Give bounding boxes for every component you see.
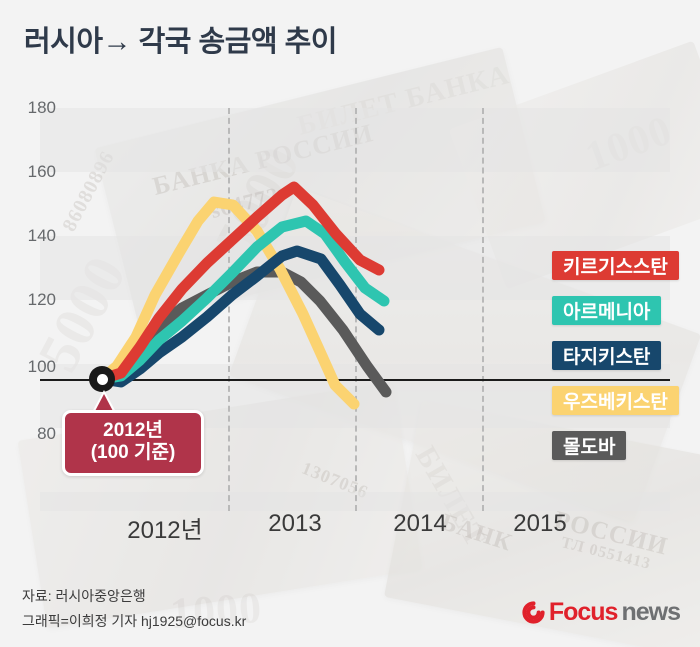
legend-label: 몰도바: [563, 432, 615, 459]
page-title: 러시아→ 각국 송금액 추이: [24, 18, 337, 60]
focus-spiral-icon: [522, 601, 545, 624]
footer-source: 자료: 러시아중앙은행: [22, 584, 246, 609]
y-tick-160: 160: [10, 162, 56, 182]
footer-credit: 그래픽=이희정 기자 hj1925@focus.kr: [22, 609, 246, 634]
y-tick-80: 80: [10, 424, 56, 444]
legend-item-uzbekistan[interactable]: 우즈베키스탄: [552, 386, 679, 415]
logo-news-text: news: [621, 598, 680, 627]
legend-label: 아르메니아: [563, 297, 650, 324]
legend-item-moldova[interactable]: 몰도바: [552, 431, 626, 460]
x-tick-2012: 2012년: [127, 510, 202, 545]
y-tick-100: 100: [10, 357, 56, 377]
x-tick-2013: 2013: [268, 510, 321, 538]
baseline-callout: 2012년 (100 기준): [62, 410, 204, 476]
legend-label: 키르기스스탄: [563, 252, 668, 279]
origin-marker: [89, 366, 115, 392]
legend-label: 타지키스탄: [563, 342, 650, 369]
logo-focus-text: Focus: [549, 598, 618, 627]
legend-item-tajikistan[interactable]: 타지키스탄: [552, 341, 661, 370]
x-tick-2014: 2014: [393, 510, 446, 538]
infographic-root: БАНКА РОССИИ ѕ64772 86080896 5000 5000 1…: [0, 0, 700, 647]
y-tick-180: 180: [10, 98, 56, 118]
legend-item-armenia[interactable]: 아르메니아: [552, 296, 661, 325]
x-tick-2015: 2015: [513, 510, 566, 538]
legend-label: 우즈베키스탄: [563, 387, 668, 414]
focusnews-logo: Focus news: [522, 598, 680, 627]
footer: 자료: 러시아중앙은행 그래픽=이희정 기자 hj1925@focus.kr: [22, 584, 246, 633]
callout-line-2: (100 기준): [69, 442, 197, 464]
legend-item-kyrgyzstan[interactable]: 키르기스스탄: [552, 251, 679, 280]
callout-line-1: 2012년: [69, 420, 197, 442]
y-tick-120: 120: [10, 290, 56, 310]
y-tick-140: 140: [10, 226, 56, 246]
